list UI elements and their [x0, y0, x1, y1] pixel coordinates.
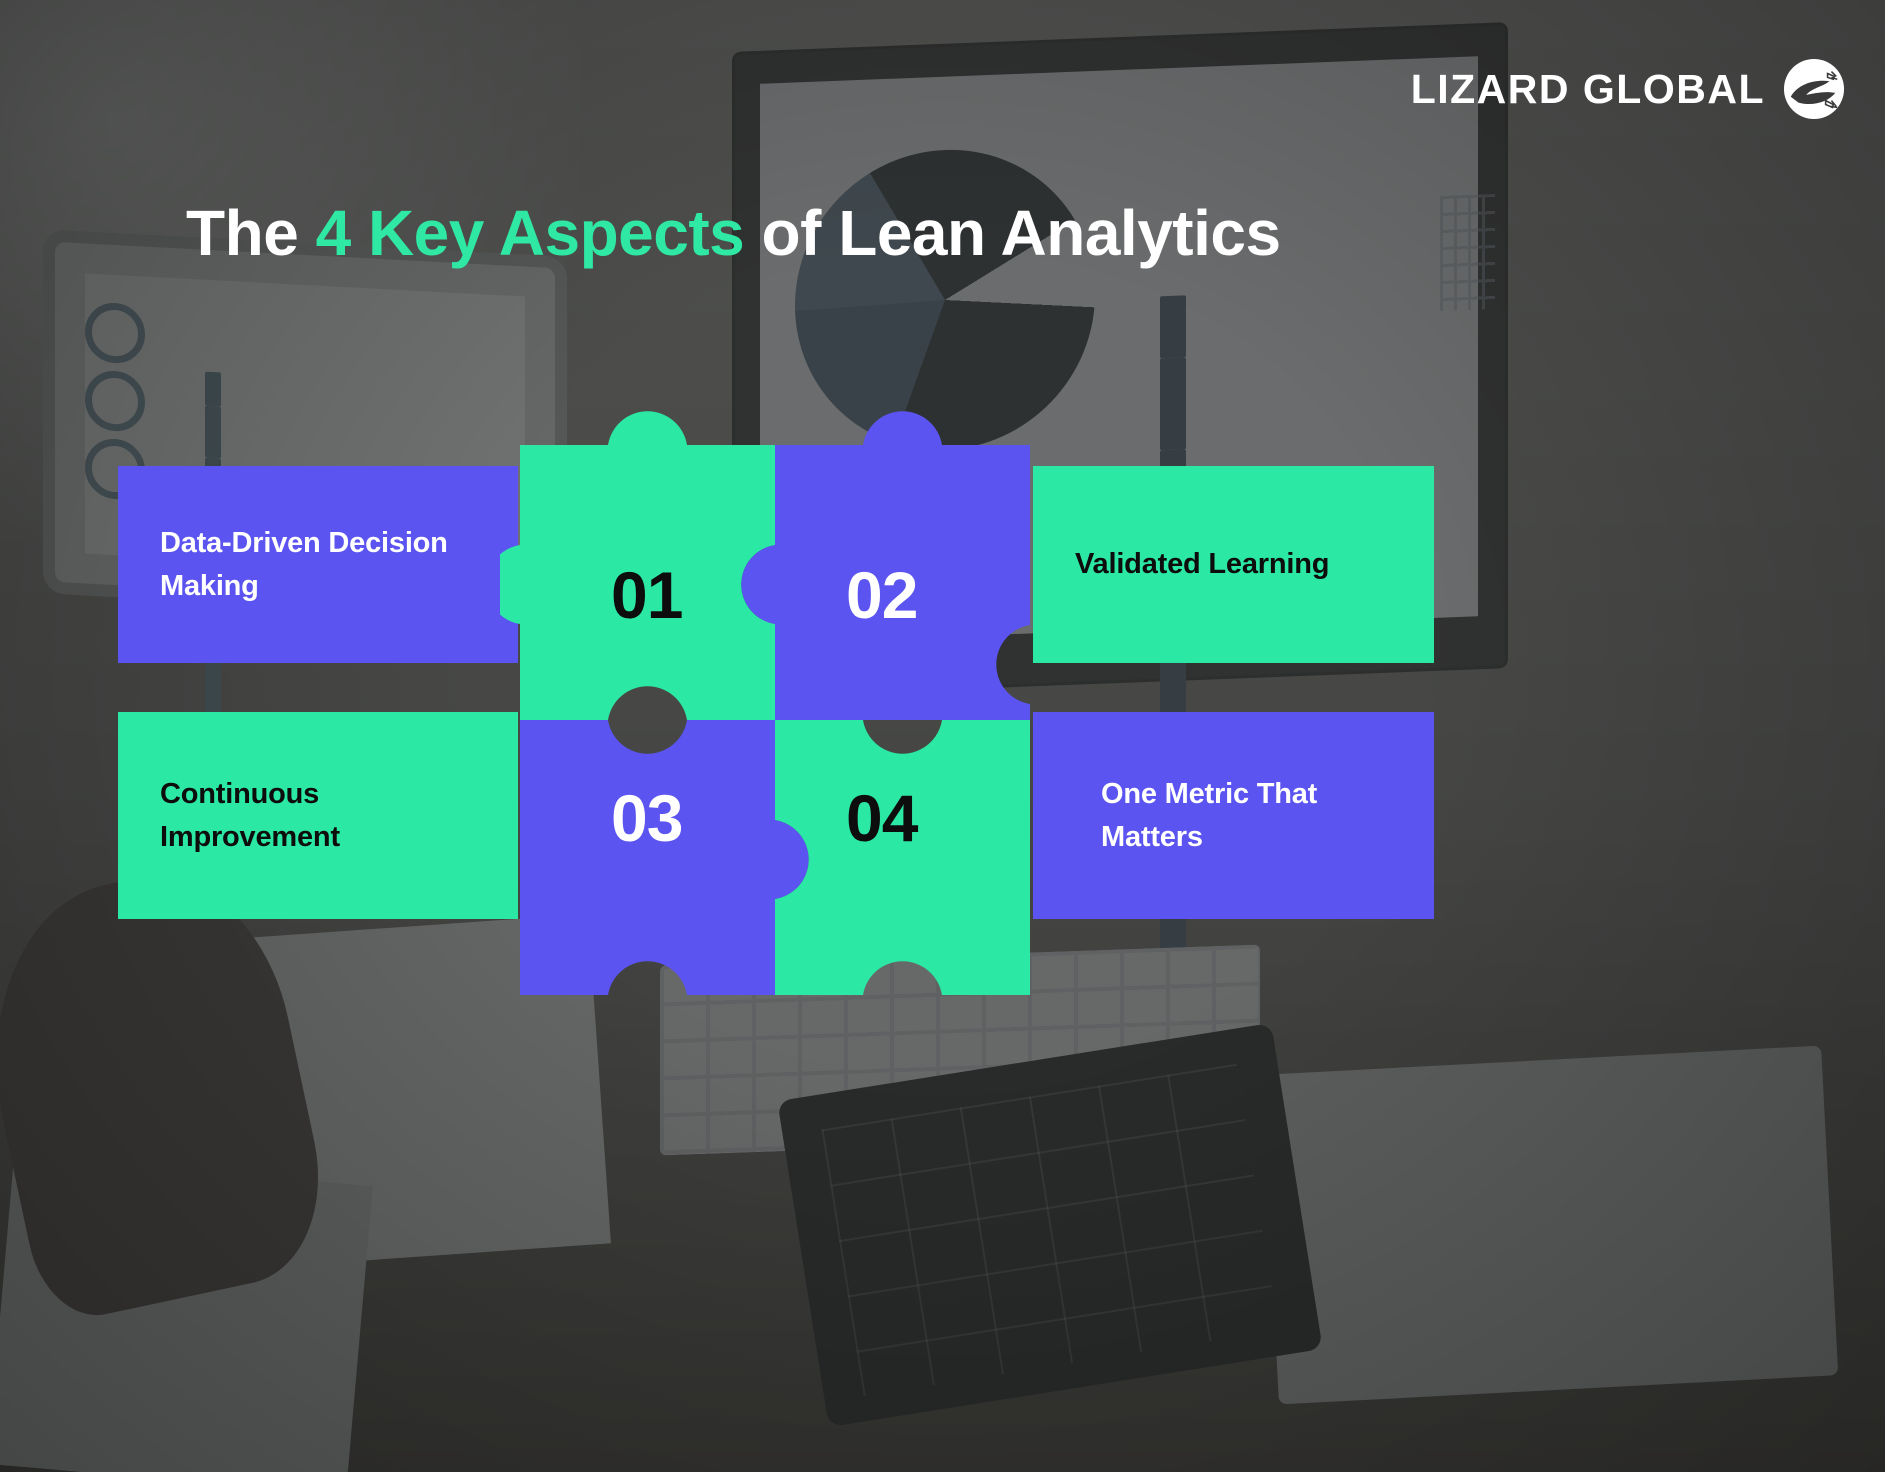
- puzzle-number-02: 02: [846, 557, 917, 633]
- label-bar-1-line-1: Data-Driven Decision: [160, 522, 448, 564]
- page-title: The 4 Key Aspects of Lean Analytics: [186, 196, 1281, 270]
- label-bar-3-line-2: Improvement: [160, 816, 340, 858]
- label-bar-2-line-1: Validated Learning: [1075, 543, 1329, 585]
- puzzle-piece-03: [520, 720, 809, 995]
- title-suffix: of Lean Analytics: [744, 197, 1280, 269]
- title-prefix: The: [186, 197, 316, 269]
- infographic-content: LIZARD GLOBAL The 4 Key Aspects of Lean …: [0, 0, 1885, 1472]
- label-bar-validated-learning[interactable]: Validated Learning: [1033, 466, 1434, 663]
- title-highlight: 4 Key Aspects: [316, 197, 745, 269]
- brand-logo: LIZARD GLOBAL: [1411, 58, 1845, 120]
- puzzle-number-04: 04: [846, 780, 917, 856]
- label-bar-continuous-improvement[interactable]: Continuous Improvement: [118, 712, 518, 919]
- puzzle-number-03: 03: [611, 780, 682, 856]
- label-bar-4-text: One Metric That Matters: [1101, 773, 1317, 857]
- puzzle-graphic: 01 02 03 04: [500, 345, 1060, 1045]
- brand-logo-text: LIZARD GLOBAL: [1411, 66, 1765, 113]
- puzzle-piece-04: [775, 720, 1030, 995]
- puzzle-svg: [500, 345, 1060, 1045]
- label-bar-4-line-2: Matters: [1101, 816, 1317, 858]
- lizard-circle-icon: [1783, 58, 1845, 120]
- label-bar-1-text: Data-Driven Decision Making: [160, 522, 448, 606]
- label-bar-2-text: Validated Learning: [1075, 543, 1329, 585]
- label-bar-data-driven-decision-making[interactable]: Data-Driven Decision Making: [118, 466, 518, 663]
- label-bar-1-line-2: Making: [160, 565, 448, 607]
- puzzle-number-01: 01: [611, 557, 682, 633]
- label-bar-3-line-1: Continuous: [160, 773, 340, 815]
- label-bar-4-line-1: One Metric That: [1101, 773, 1317, 815]
- label-bar-one-metric-that-matters[interactable]: One Metric That Matters: [1033, 712, 1434, 919]
- label-bar-3-text: Continuous Improvement: [160, 773, 340, 857]
